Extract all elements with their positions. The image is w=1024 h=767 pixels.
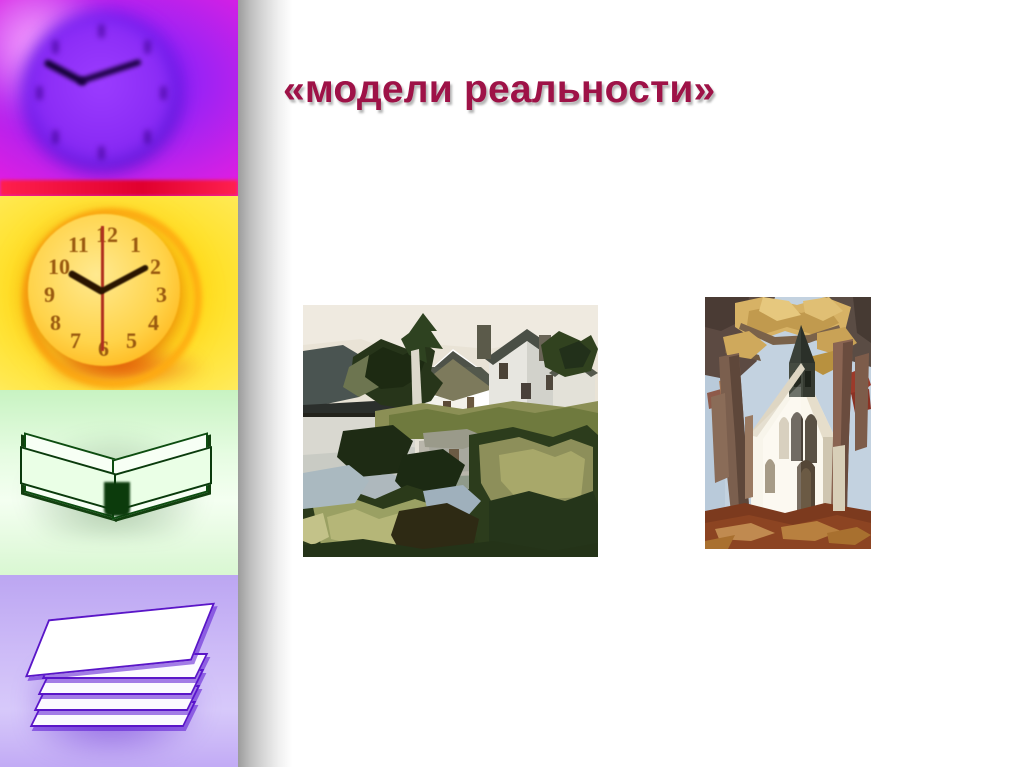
orange-clock-numeral: 8 bbox=[50, 310, 61, 336]
orange-clock-numeral: 2 bbox=[150, 254, 161, 280]
orange-clock-numeral: 12 bbox=[96, 222, 118, 248]
church-painting-svg bbox=[705, 297, 871, 560]
orange-clock-numeral: 11 bbox=[68, 232, 89, 258]
open-book-spine bbox=[104, 482, 130, 516]
violet-clock-tick bbox=[160, 86, 167, 100]
strip-panel-clock-orange: 12 1 2 3 4 5 6 7 8 9 10 11 bbox=[0, 196, 238, 390]
house-painting-svg bbox=[303, 305, 598, 557]
strip-panel-clock-violet bbox=[0, 0, 238, 196]
orange-clock-numeral: 4 bbox=[148, 310, 159, 336]
violet-clock-tick bbox=[52, 40, 59, 54]
orange-clock-numeral: 5 bbox=[126, 328, 137, 354]
orange-clock-numeral: 1 bbox=[130, 232, 141, 258]
orange-clock-numeral: 7 bbox=[70, 328, 81, 354]
violet-clock-tick bbox=[98, 146, 105, 160]
orange-clock-numeral: 3 bbox=[156, 282, 167, 308]
orange-clock-numeral: 10 bbox=[48, 254, 70, 280]
painting-house-by-water bbox=[303, 305, 598, 557]
orange-clock-numeral: 9 bbox=[44, 282, 55, 308]
filmstrip-edge-shadow bbox=[238, 0, 292, 767]
violet-clock-tick bbox=[52, 130, 59, 144]
decorative-image-strip: 12 1 2 3 4 5 6 7 8 9 10 11 bbox=[0, 0, 238, 767]
violet-clock-tick bbox=[98, 24, 105, 38]
violet-clock-tick bbox=[144, 130, 151, 144]
strip-panel-open-book bbox=[0, 390, 238, 575]
page-title: «модели реальности» bbox=[283, 69, 943, 112]
violet-panel-red-band bbox=[0, 180, 238, 196]
painting-chapel-in-autumn-woods bbox=[705, 297, 871, 560]
strip-panel-paper-stack bbox=[0, 575, 238, 767]
violet-clock-tick bbox=[36, 86, 43, 100]
slide-canvas: 12 1 2 3 4 5 6 7 8 9 10 11 bbox=[0, 0, 1024, 767]
violet-clock-tick bbox=[144, 40, 151, 54]
